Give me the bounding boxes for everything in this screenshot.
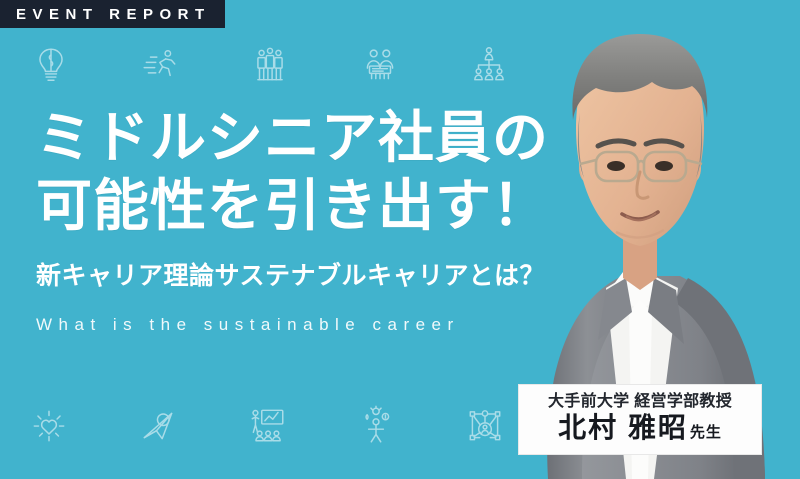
two-people-document-icon	[359, 44, 401, 86]
person-ideas-icon	[355, 404, 397, 446]
headline-line-2: 可能性を引き出す！	[36, 172, 549, 240]
running-person-icon	[140, 44, 182, 86]
lightbulb-brain-icon	[30, 44, 72, 86]
speaker-name-row: 北村 雅昭 先生	[558, 413, 722, 444]
speaker-affiliation: 大手前大学 経営学部教授	[548, 393, 732, 411]
tagline-english: What is the sustainable career	[36, 316, 549, 333]
heart-rays-icon	[28, 404, 70, 446]
subheadline: 新キャリア理論サステナブルキャリアとは？	[36, 263, 549, 291]
speaker-name-card: 大手前大学 経営学部教授 北村 雅昭 先生	[518, 384, 762, 455]
presentation-chart-icon	[246, 404, 288, 446]
speaker-name: 北村 雅昭	[558, 413, 688, 444]
paper-plane-icon	[137, 404, 179, 446]
event-report-banner: ミドルシニア社員の 可能性を引き出す！ 新キャリア理論サステナブルキャリアとは？…	[0, 0, 800, 479]
event-report-badge: EVENT REPORT	[0, 0, 225, 28]
headline-block: ミドルシニア社員の 可能性を引き出す！ 新キャリア理論サステナブルキャリアとは？…	[36, 104, 549, 333]
headline-line-1: ミドルシニア社員の	[36, 106, 549, 169]
page-title: ミドルシニア社員の 可能性を引き出す！	[36, 104, 549, 241]
speaker-honorific: 先生	[690, 421, 722, 442]
badge-label: EVENT REPORT	[16, 7, 211, 22]
people-group-icon	[249, 44, 291, 86]
